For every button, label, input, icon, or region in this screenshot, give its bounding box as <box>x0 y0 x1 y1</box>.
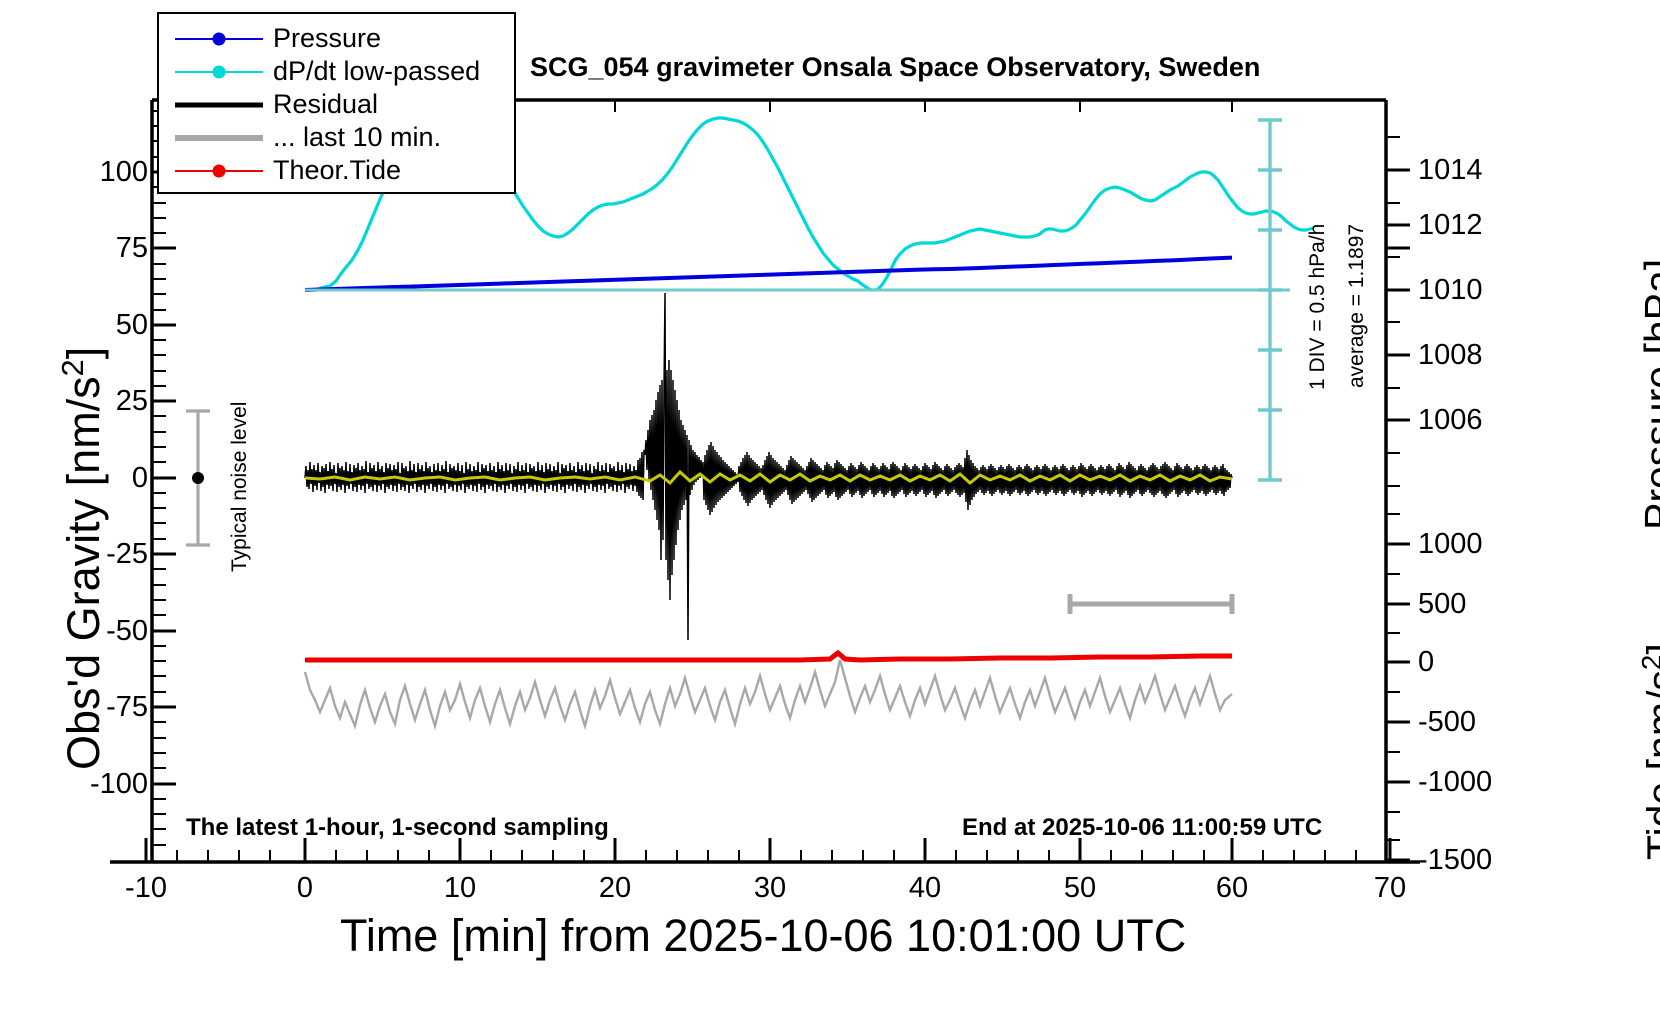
x-tick-4: 30 <box>730 872 810 905</box>
y-tick-left-8: -100 <box>62 768 148 801</box>
series-theor-tide <box>305 653 1232 660</box>
y-tick-pressure-0: 1014 <box>1418 154 1483 187</box>
legend-swatch-pressure <box>175 26 263 52</box>
legend-label-pressure: Pressure <box>273 23 381 54</box>
legend-label-theor-tide: Theor.Tide <box>273 155 401 186</box>
x-tick-0: -10 <box>106 872 186 905</box>
y-tick-pressure-4: 1006 <box>1418 404 1483 437</box>
y-tick-left-4: 0 <box>96 462 148 495</box>
gravimeter-plot: SCG_054 gravimeter Onsala Space Observat… <box>0 0 1660 1020</box>
x-tick-6: 50 <box>1040 872 1120 905</box>
footer-left: The latest 1-hour, 1-second sampling <box>186 814 609 842</box>
legend-label-residual: Residual <box>273 89 378 120</box>
x-tick-3: 20 <box>575 872 655 905</box>
y-tick-tide-0: 1000 <box>1418 528 1483 561</box>
series-last-10-min <box>305 660 1232 726</box>
y-tick-pressure-2: 1010 <box>1418 274 1483 307</box>
legend-swatch-residual <box>175 92 263 118</box>
legend-item-pressure[interactable]: Pressure <box>159 22 514 55</box>
x-tick-2: 10 <box>420 872 500 905</box>
y-tick-tide-2: 0 <box>1418 646 1434 679</box>
y-tick-left-2: 50 <box>96 309 148 342</box>
footer-right: End at 2025-10-06 11:00:59 UTC <box>962 814 1322 842</box>
legend-item-residual[interactable]: Residual <box>159 88 514 121</box>
series-residual <box>305 293 1232 640</box>
y-tick-left-6: -50 <box>78 615 148 648</box>
y-tick-tide-3: -500 <box>1418 706 1476 739</box>
x-axis-label: Time [min] from 2025-10-06 10:01:00 UTC <box>340 910 1186 962</box>
x-tick-7: 60 <box>1192 872 1272 905</box>
legend-item-last10[interactable]: ... last 10 min. <box>159 121 514 154</box>
typical-noise-level-marker <box>186 411 210 545</box>
y-tick-tide-4: -1000 <box>1418 766 1492 799</box>
last-10-min-range-bar <box>1070 594 1232 614</box>
y-tick-pressure-3: 1008 <box>1418 339 1483 372</box>
x-tick-1: 0 <box>265 872 345 905</box>
legend-item-dpdt[interactable]: dP/dt low-passed <box>159 55 514 88</box>
y-tick-left-1: 75 <box>96 232 148 265</box>
legend-item-theor-tide[interactable]: Theor.Tide <box>159 154 514 187</box>
y-tick-pressure-1: 1012 <box>1418 209 1483 242</box>
y-tick-left-5: -25 <box>78 538 148 571</box>
x-tick-5: 40 <box>885 872 965 905</box>
legend-label-dpdt: dP/dt low-passed <box>273 56 480 87</box>
legend-swatch-dpdt <box>175 59 263 85</box>
average-label: average = 1.1897 <box>1345 224 1369 388</box>
legend-swatch-last10 <box>175 125 263 151</box>
series-pressure <box>305 258 1232 290</box>
legend-label-last10: ... last 10 min. <box>273 122 441 153</box>
legend: Pressure dP/dt low-passed Residual ... l… <box>157 12 516 194</box>
y-tick-left-7: -75 <box>78 691 148 724</box>
legend-swatch-theor-tide <box>175 158 263 184</box>
typical-noise-level-label: Typical noise level <box>228 402 252 572</box>
y-tick-tide-1: 500 <box>1418 588 1466 621</box>
y-tick-left-3: 25 <box>96 385 148 418</box>
y-tick-left-0: 100 <box>96 156 148 189</box>
div-scale-label: 1 DIV = 0.5 hPa/h <box>1306 224 1330 390</box>
y-tick-tide-5: -1500 <box>1418 844 1492 877</box>
